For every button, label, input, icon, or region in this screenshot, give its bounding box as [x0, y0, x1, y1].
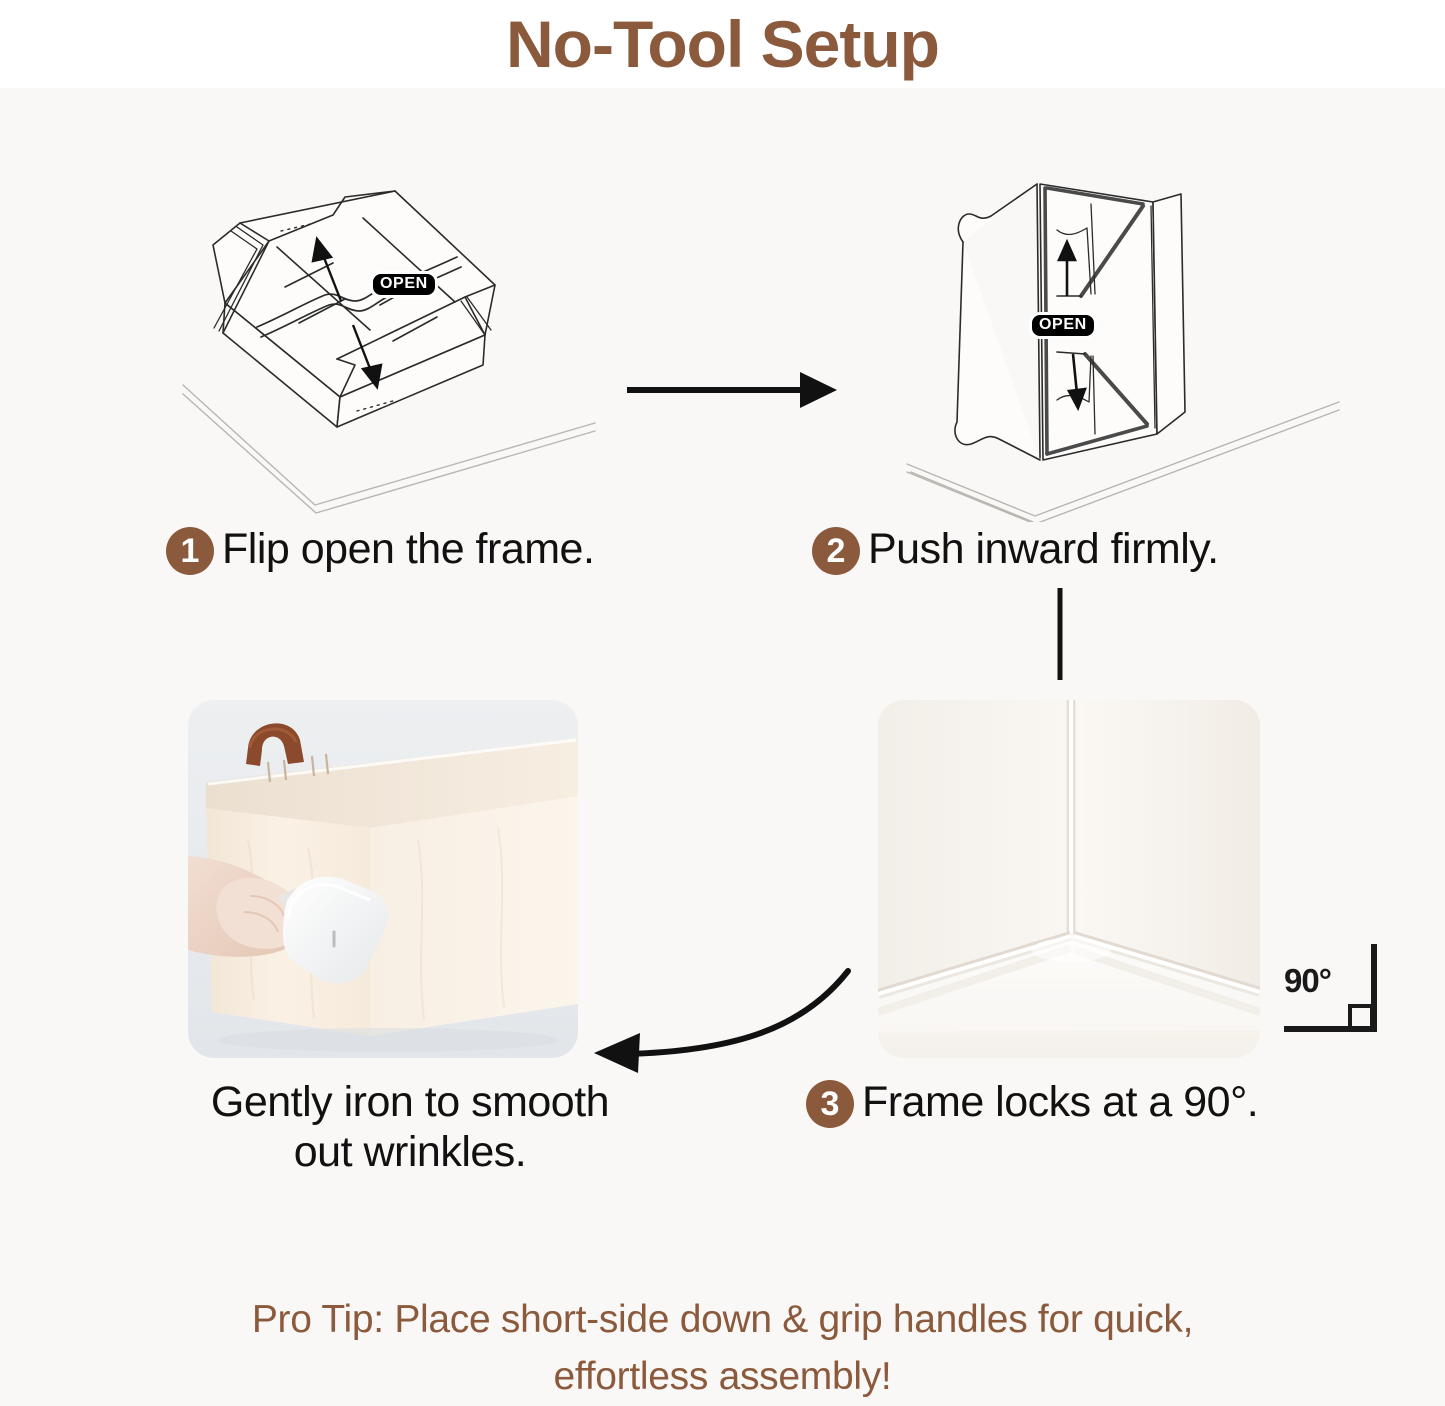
folded-bin-line-drawing: [165, 175, 605, 515]
step-2-label: Push inward firmly.: [868, 525, 1219, 575]
arrow-right-icon: [625, 368, 840, 412]
iron-step-label-line1: Gently iron to smooth: [150, 1078, 670, 1128]
angle-label: 90°: [1284, 962, 1331, 1000]
hand-steaming-bin-photo: [188, 700, 578, 1058]
arrow-step3-to-iron: [578, 955, 868, 1085]
open-label-1: OPEN: [370, 271, 438, 298]
step-2-caption: 2 Push inward firmly.: [812, 525, 1219, 575]
pro-tip: Pro Tip: Place short-side down & grip ha…: [0, 1292, 1445, 1405]
infographic-stage: OPEN: [0, 0, 1445, 1406]
step-1-caption: 1 Flip open the frame.: [166, 525, 594, 575]
step-3-label: Frame locks at a 90°.: [862, 1078, 1258, 1128]
vertical-line-connector: [1055, 588, 1065, 680]
step-3-badge: 3: [806, 1080, 854, 1128]
step-1-illustration: OPEN: [165, 175, 605, 515]
pro-tip-line-1: Pro Tip: Place short-side down & grip ha…: [0, 1292, 1445, 1349]
bin-corner-photo: [878, 700, 1260, 1058]
opening-bin-line-drawing: [905, 172, 1345, 522]
iron-step-caption: Gently iron to smooth out wrinkles.: [150, 1078, 670, 1178]
iron-step-photo: [188, 700, 578, 1058]
step-2-badge: 2: [812, 527, 860, 575]
step-1-label: Flip open the frame.: [222, 525, 594, 575]
step-2-illustration: OPEN: [905, 172, 1345, 522]
angle-badge: 90°: [1282, 940, 1392, 1045]
arrow-step1-to-step2: [625, 368, 840, 417]
step-3-photo: [878, 700, 1260, 1058]
open-label-2: OPEN: [1029, 312, 1097, 339]
connector-step2-to-step3: [1055, 588, 1065, 685]
step-3-caption: 3 Frame locks at a 90°.: [806, 1078, 1258, 1128]
curved-arrow-left-icon: [578, 955, 868, 1080]
pro-tip-line-2: effortless assembly!: [0, 1349, 1445, 1406]
iron-step-label-line2: out wrinkles.: [150, 1128, 670, 1178]
step-1-badge: 1: [166, 527, 214, 575]
